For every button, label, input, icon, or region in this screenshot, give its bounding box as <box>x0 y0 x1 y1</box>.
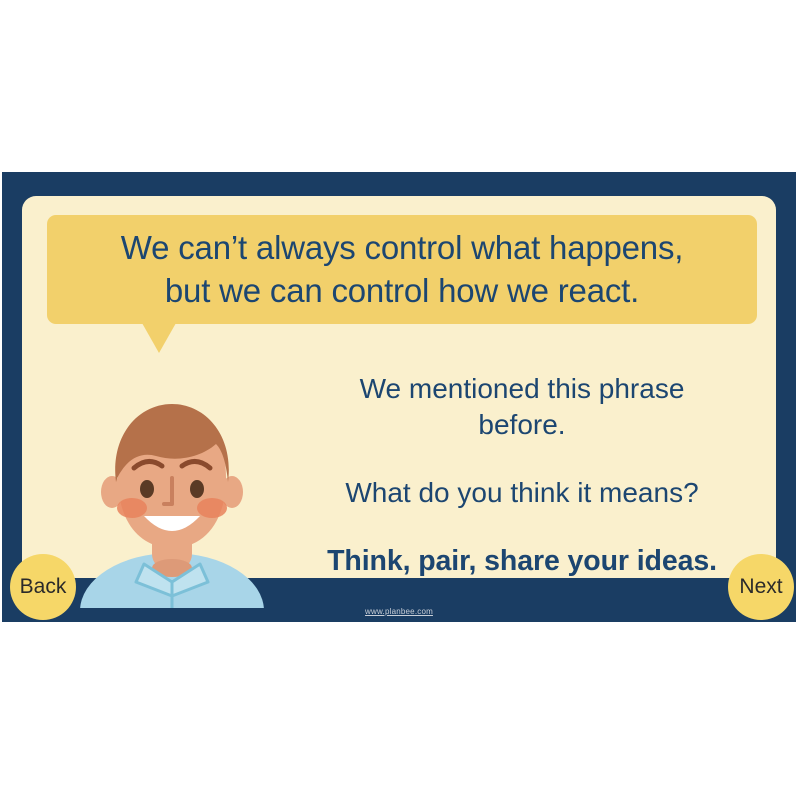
next-button-label: Next <box>739 575 782 599</box>
cheek-right <box>197 498 227 518</box>
body-text-block: We mentioned this phrase before. What do… <box>272 371 772 579</box>
speech-bubble: We can’t always control what happens, bu… <box>47 215 757 324</box>
body-line-1: We mentioned this phrase <box>360 373 685 404</box>
speech-bubble-line-2: but we can control how we react. <box>165 270 639 312</box>
speech-bubble-line-1: We can’t always control what happens, <box>121 227 683 269</box>
watermark-link[interactable]: www.planbee.com <box>2 607 796 616</box>
body-paragraph-1: We mentioned this phrase before. <box>272 371 772 442</box>
speech-bubble-tail <box>142 323 176 353</box>
body-paragraph-3: Think, pair, share your ideas. <box>272 543 772 579</box>
cheek-left <box>117 498 147 518</box>
character-illustration <box>72 396 272 608</box>
slide-frame: We can’t always control what happens, bu… <box>2 172 796 622</box>
body-paragraph-2: What do you think it means? <box>272 475 772 511</box>
body-line-2: before. <box>478 409 565 440</box>
back-button-label: Back <box>20 575 67 599</box>
eye-left <box>140 480 154 498</box>
slide-panel: We can’t always control what happens, bu… <box>22 196 776 578</box>
eye-right <box>190 480 204 498</box>
